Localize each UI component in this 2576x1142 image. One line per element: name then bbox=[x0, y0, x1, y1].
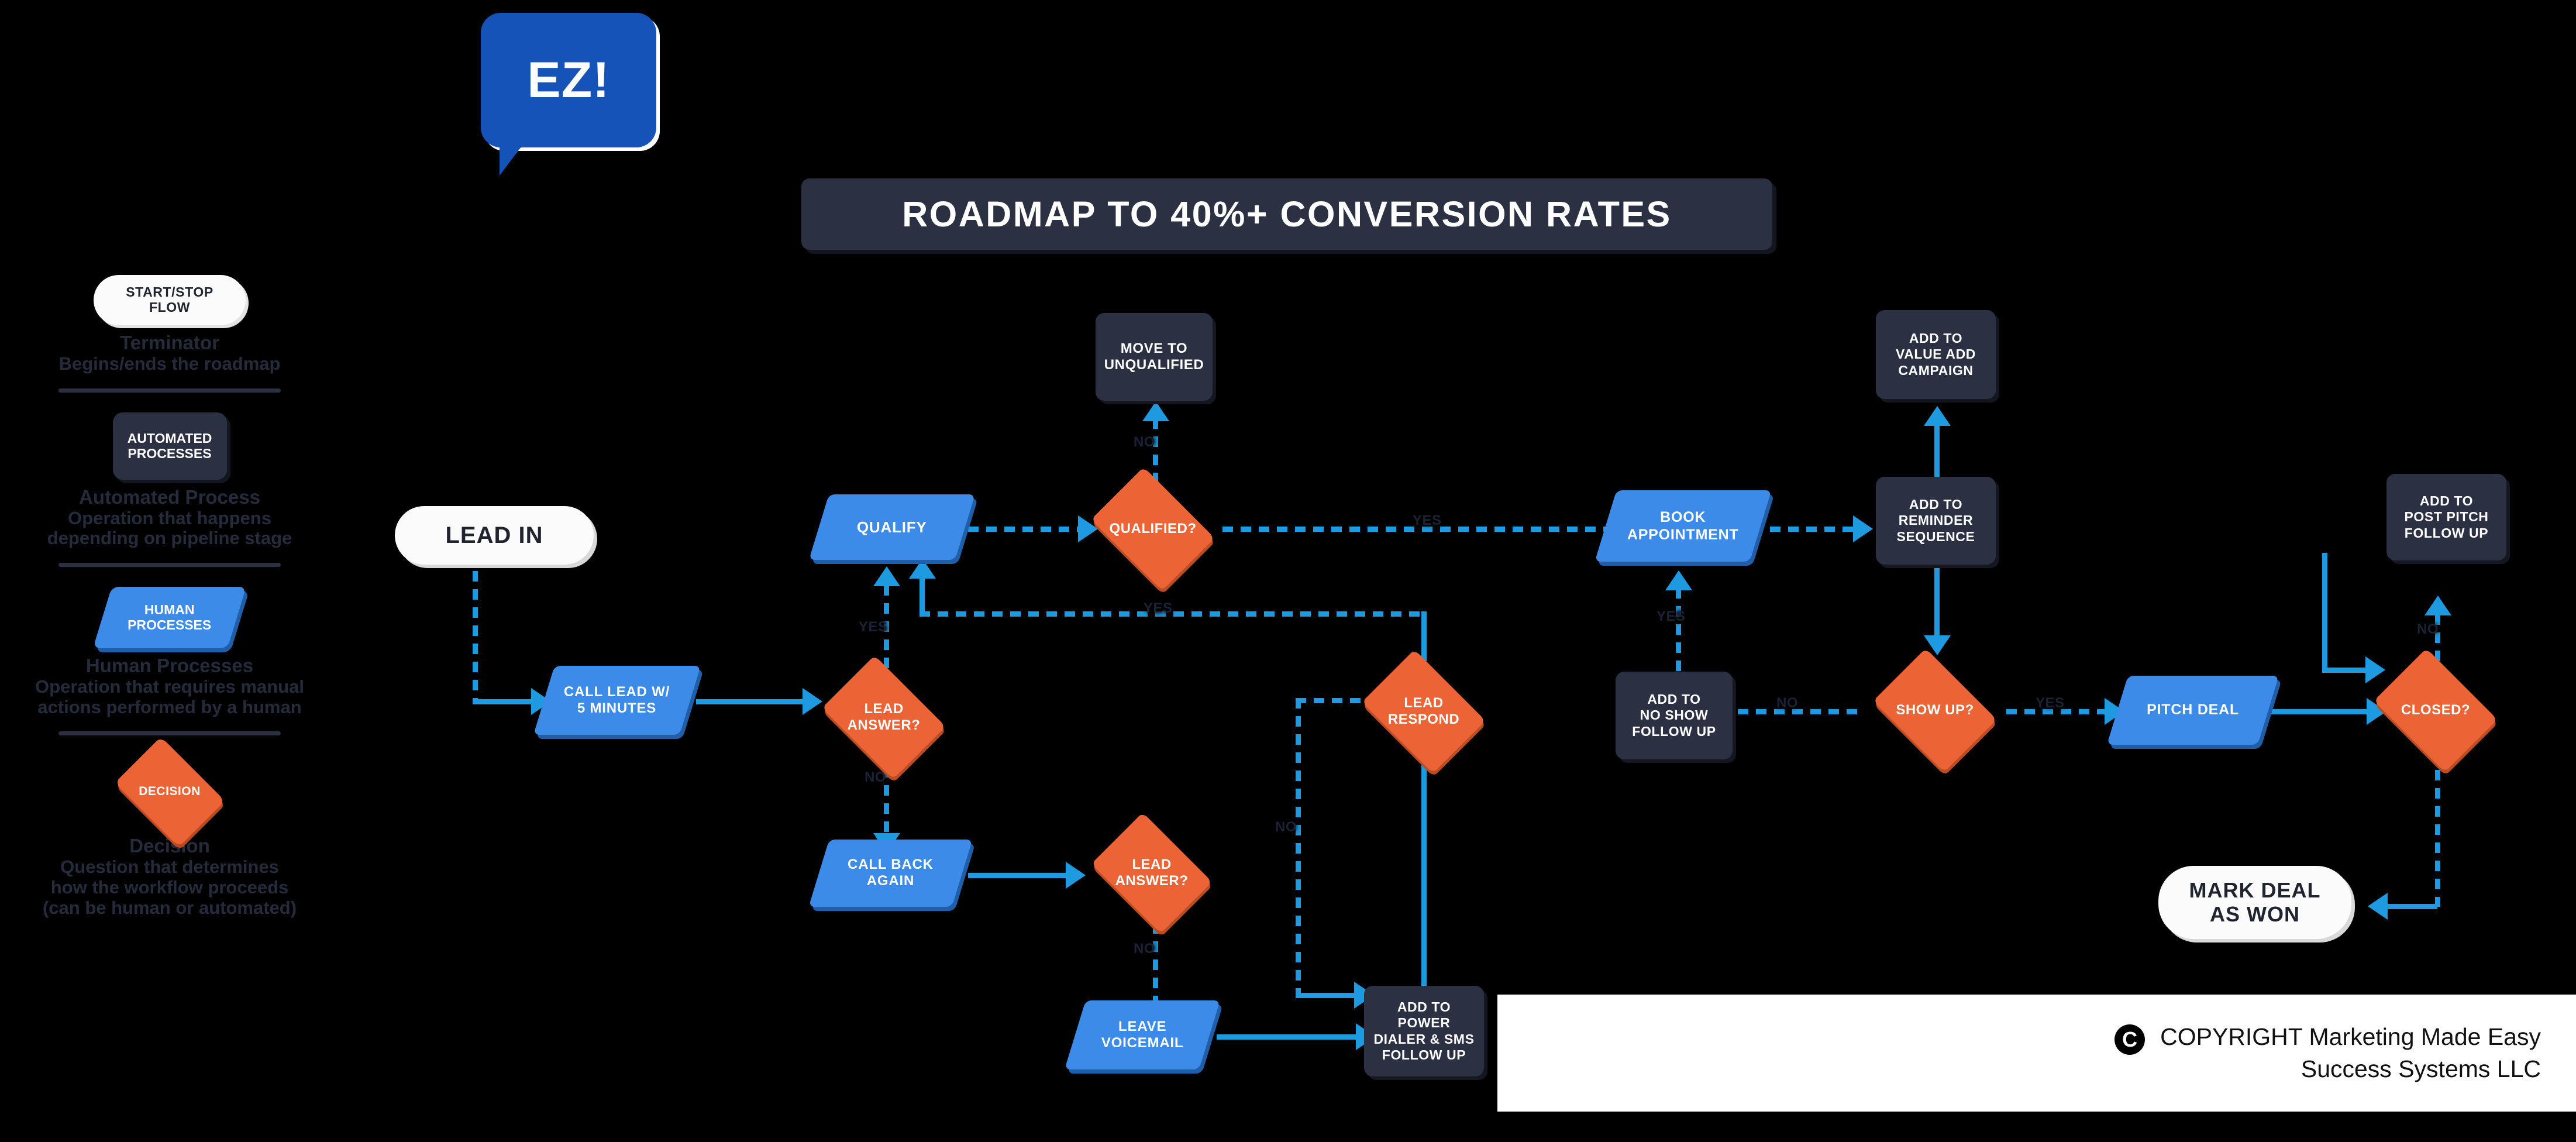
legend-shape-label: DECISION bbox=[0, 785, 339, 799]
node-label: ADD TOPOWERDIALER & SMSFOLLOW UP bbox=[1373, 999, 1474, 1063]
arrow-to-value-add bbox=[1924, 406, 1951, 426]
edge-label-answer1-yes: YES bbox=[859, 619, 888, 635]
legend-divider bbox=[58, 563, 281, 567]
node-label: BOOKAPPOINTMENT bbox=[1627, 509, 1739, 544]
edge-label-respond-yes: YES bbox=[1144, 600, 1173, 617]
logo-text: EZ! bbox=[481, 13, 656, 147]
edge-closed-yes-v bbox=[2435, 752, 2440, 907]
copyright-footer: C COPYRIGHT Marketing Made Easy Success … bbox=[1497, 995, 2576, 1112]
node-add-no-show[interactable]: ADD TONO SHOWFOLLOW UP bbox=[1616, 672, 1733, 759]
edge-label-qualified-no: NO bbox=[1134, 434, 1155, 450]
node-lead-in[interactable]: LEAD IN bbox=[395, 506, 594, 565]
edge-respond-yes-v bbox=[919, 576, 925, 613]
node-label: LEAD IN bbox=[446, 522, 543, 549]
legend-item-terminator: START/STOPFLOW Terminator Begins/ends th… bbox=[0, 275, 339, 374]
legend-shape-automated: AUTOMATEDPROCESSES bbox=[113, 412, 227, 480]
node-lead-answer-1[interactable]: LEADANSWER? bbox=[834, 667, 934, 768]
arrow-to-unqualified bbox=[1142, 401, 1169, 421]
node-qualified[interactable]: QUALIFIED? bbox=[1103, 479, 1203, 579]
edge-qualified-no bbox=[1153, 418, 1158, 483]
node-pitch-deal[interactable]: PITCH DEAL bbox=[2107, 676, 2279, 745]
node-label: LEADRESPOND bbox=[1373, 661, 1474, 762]
legend-divider bbox=[58, 388, 281, 393]
node-mark-deal-won[interactable]: MARK DEALAS WON bbox=[2158, 866, 2351, 939]
node-power-dialer-sms[interactable]: ADD TOPOWERDIALER & SMSFOLLOW UP bbox=[1364, 986, 1484, 1076]
arrow-to-book-yes bbox=[1665, 570, 1692, 590]
node-label: ADD TONO SHOWFOLLOW UP bbox=[1632, 692, 1716, 739]
node-lead-respond[interactable]: LEADRESPOND bbox=[1373, 661, 1474, 762]
edge-label-noshow-yes: YES bbox=[1657, 608, 1686, 625]
legend-shape-label: START/STOPFLOW bbox=[126, 285, 213, 315]
node-label: LEAVEVOICEMAIL bbox=[1101, 1019, 1184, 1052]
arrow-to-post-pitch bbox=[2425, 596, 2451, 615]
edge-label-answer2-no: NO bbox=[1134, 941, 1155, 957]
node-label: QUALIFY bbox=[857, 518, 927, 536]
node-qualify[interactable]: QUALIFY bbox=[809, 494, 975, 560]
copyright-line-2: Success Systems LLC bbox=[2160, 1053, 2541, 1085]
node-reminder-sequence[interactable]: ADD TOREMINDERSEQUENCE bbox=[1876, 477, 1996, 565]
legend-shape-terminator: START/STOPFLOW bbox=[94, 275, 246, 325]
edge-label-respond-no: NO bbox=[1275, 819, 1297, 835]
node-label: SHOW UP? bbox=[1885, 660, 1985, 761]
node-show-up[interactable]: SHOW UP? bbox=[1885, 660, 1985, 761]
flowchart-canvas: EZ! ROADMAP TO 40%+ CONVERSION RATES STA… bbox=[0, 0, 2576, 1142]
edge-postpitch-v bbox=[2322, 553, 2327, 673]
node-label: CLOSED? bbox=[2385, 660, 2486, 761]
edge-label-closed-no: NO bbox=[2417, 621, 2439, 638]
node-move-to-unqualified[interactable]: MOVE TOUNQUALIFIED bbox=[1096, 313, 1213, 401]
legend-item-automated: AUTOMATEDPROCESSES Automated Process Ope… bbox=[0, 412, 339, 549]
edge-leadin-down bbox=[473, 553, 478, 702]
page-title: ROADMAP TO 40%+ CONVERSION RATES bbox=[801, 178, 1772, 250]
edge-pitch-closed bbox=[2270, 709, 2372, 714]
edge-calllead-answer1 bbox=[696, 699, 807, 704]
edge-label-qualified-yes: YES bbox=[1413, 512, 1442, 529]
copyright-icon: C bbox=[2114, 1024, 2145, 1055]
arrow-to-mark-won bbox=[2368, 893, 2388, 920]
edge-respond-yes-up bbox=[1421, 611, 1427, 661]
node-leave-voicemail[interactable]: LEAVEVOICEMAIL bbox=[1065, 1000, 1220, 1069]
node-label: CALL LEAD W/5 MINUTES bbox=[564, 684, 670, 717]
edge-qualify-qualified bbox=[968, 527, 1082, 532]
edge-respond-no-in bbox=[1296, 993, 1357, 998]
node-label: ADD TOPOST PITCHFOLLOW UP bbox=[2404, 493, 2488, 541]
node-label: LEADANSWER? bbox=[834, 667, 934, 768]
legend-title: Decision bbox=[0, 835, 339, 857]
node-value-add-campaign[interactable]: ADD TOVALUE ADDCAMPAIGN bbox=[1876, 310, 1996, 399]
edge-voicemail-powerdialer bbox=[1217, 1034, 1360, 1040]
edge-closed-yes-h bbox=[2388, 904, 2437, 909]
edge-respond-no-v bbox=[1296, 698, 1301, 996]
node-closed[interactable]: CLOSED? bbox=[2385, 660, 2486, 761]
node-label: MOVE TOUNQUALIFIED bbox=[1104, 340, 1204, 374]
node-book-appointment[interactable]: BOOKAPPOINTMENT bbox=[1594, 490, 1771, 562]
arrow-to-qualify-respond bbox=[909, 559, 936, 579]
legend-item-human: HUMANPROCESSES Human Processes Operation… bbox=[0, 587, 339, 717]
node-call-lead-5min[interactable]: CALL LEAD W/5 MINUTES bbox=[533, 666, 701, 735]
legend-title: Terminator bbox=[0, 332, 339, 354]
edge-label-showup-no: NO bbox=[1776, 695, 1798, 711]
node-label: ADD TOREMINDERSEQUENCE bbox=[1897, 497, 1975, 544]
arrow-to-qualify-yes bbox=[873, 566, 900, 586]
node-label: CALL BACKAGAIN bbox=[848, 857, 934, 890]
edge-callback-answer2 bbox=[968, 873, 1070, 878]
legend-title: Human Processes bbox=[0, 655, 339, 677]
node-call-back-again[interactable]: CALL BACKAGAIN bbox=[808, 840, 972, 907]
legend-shape-human: HUMANPROCESSES bbox=[93, 587, 246, 648]
legend-shape-label: HUMANPROCESSES bbox=[128, 602, 211, 632]
ez-logo: EZ! bbox=[481, 13, 656, 147]
arrow-to-lead-answer-2 bbox=[1066, 862, 1086, 889]
edge-powerdialer-respond bbox=[1421, 734, 1427, 986]
arrow-to-lead-answer-1 bbox=[803, 688, 822, 715]
arrow-to-reminder bbox=[1853, 515, 1873, 542]
edge-noshow-book bbox=[1676, 588, 1681, 679]
node-label: MARK DEALAS WON bbox=[2189, 879, 2321, 926]
edge-label-answer1-no: NO bbox=[865, 769, 886, 786]
arrow-to-closed-loop bbox=[2365, 656, 2385, 683]
legend-item-decision: DECISION Decision Question that determin… bbox=[0, 755, 339, 918]
node-label: PITCH DEAL bbox=[2147, 701, 2239, 719]
copyright-line-1: COPYRIGHT Marketing Made Easy bbox=[2160, 1021, 2541, 1053]
legend-desc: Begins/ends the roadmap bbox=[0, 354, 339, 374]
legend-desc: Question that determineshow the workflow… bbox=[0, 857, 339, 918]
legend-title: Automated Process bbox=[0, 487, 339, 508]
node-lead-answer-2[interactable]: LEADANSWER? bbox=[1103, 824, 1201, 922]
legend-shape-label: AUTOMATEDPROCESSES bbox=[128, 431, 212, 461]
node-label: LEADANSWER? bbox=[1103, 824, 1201, 922]
legend-panel: START/STOPFLOW Terminator Begins/ends th… bbox=[0, 275, 339, 919]
page-title-text: ROADMAP TO 40%+ CONVERSION RATES bbox=[902, 194, 1672, 235]
legend-desc: Operation that requires manualactions pe… bbox=[0, 677, 339, 717]
node-label: ADD TOVALUE ADDCAMPAIGN bbox=[1896, 331, 1976, 378]
edge-leadin-right bbox=[473, 699, 534, 704]
node-post-pitch-followup[interactable]: ADD TOPOST PITCHFOLLOW UP bbox=[2386, 474, 2506, 560]
legend-divider bbox=[58, 731, 281, 735]
edge-postpitch-in bbox=[2322, 668, 2369, 673]
edge-book-reminder bbox=[1752, 527, 1857, 532]
edge-label-showup-yes: YES bbox=[2036, 695, 2065, 711]
legend-desc: Operation that happensdepending on pipel… bbox=[0, 508, 339, 549]
edge-reminder-showup bbox=[1934, 562, 1940, 638]
node-label: QUALIFIED? bbox=[1103, 479, 1203, 579]
